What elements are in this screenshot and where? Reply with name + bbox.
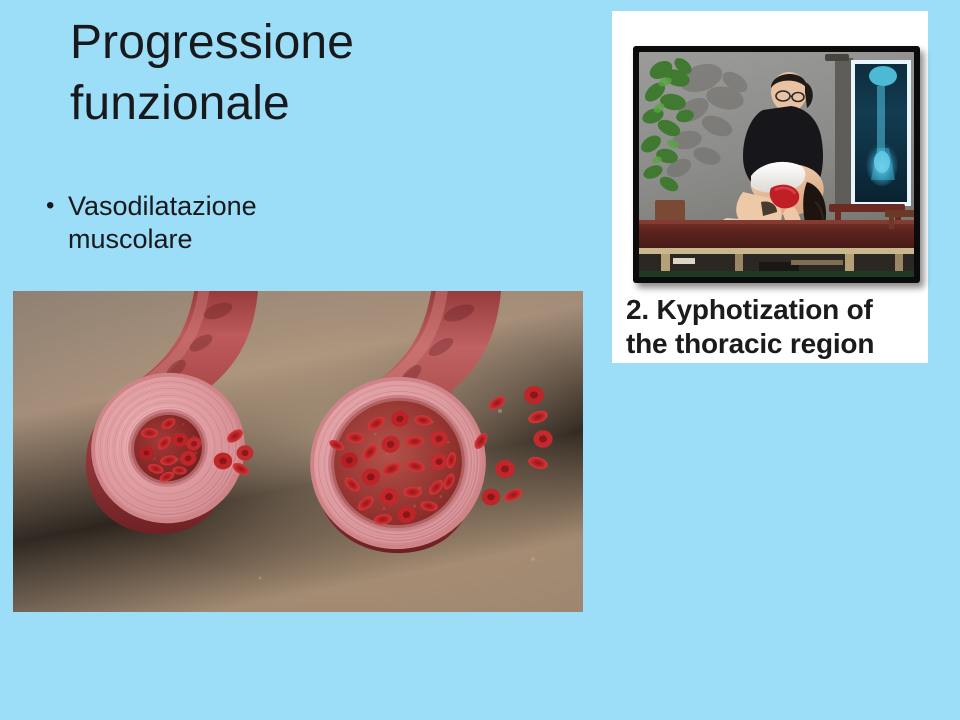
treatment-table [639,220,914,277]
photo-card: 2. Kyphotization of the thoracic region [612,11,928,363]
xray-lightbox [825,54,911,234]
page-title: Progressione funzionale [70,12,570,134]
bullet-list: Vasodilatazione muscolare [44,190,344,256]
blood-vessel-illustration [13,291,583,612]
therapy-photo-frame [633,46,920,283]
photo-caption: 2. Kyphotization of the thoracic region [626,293,918,361]
list-item: Vasodilatazione muscolare [44,190,344,256]
slide-canvas: Progressione funzionale Vasodilatazione … [0,0,960,720]
